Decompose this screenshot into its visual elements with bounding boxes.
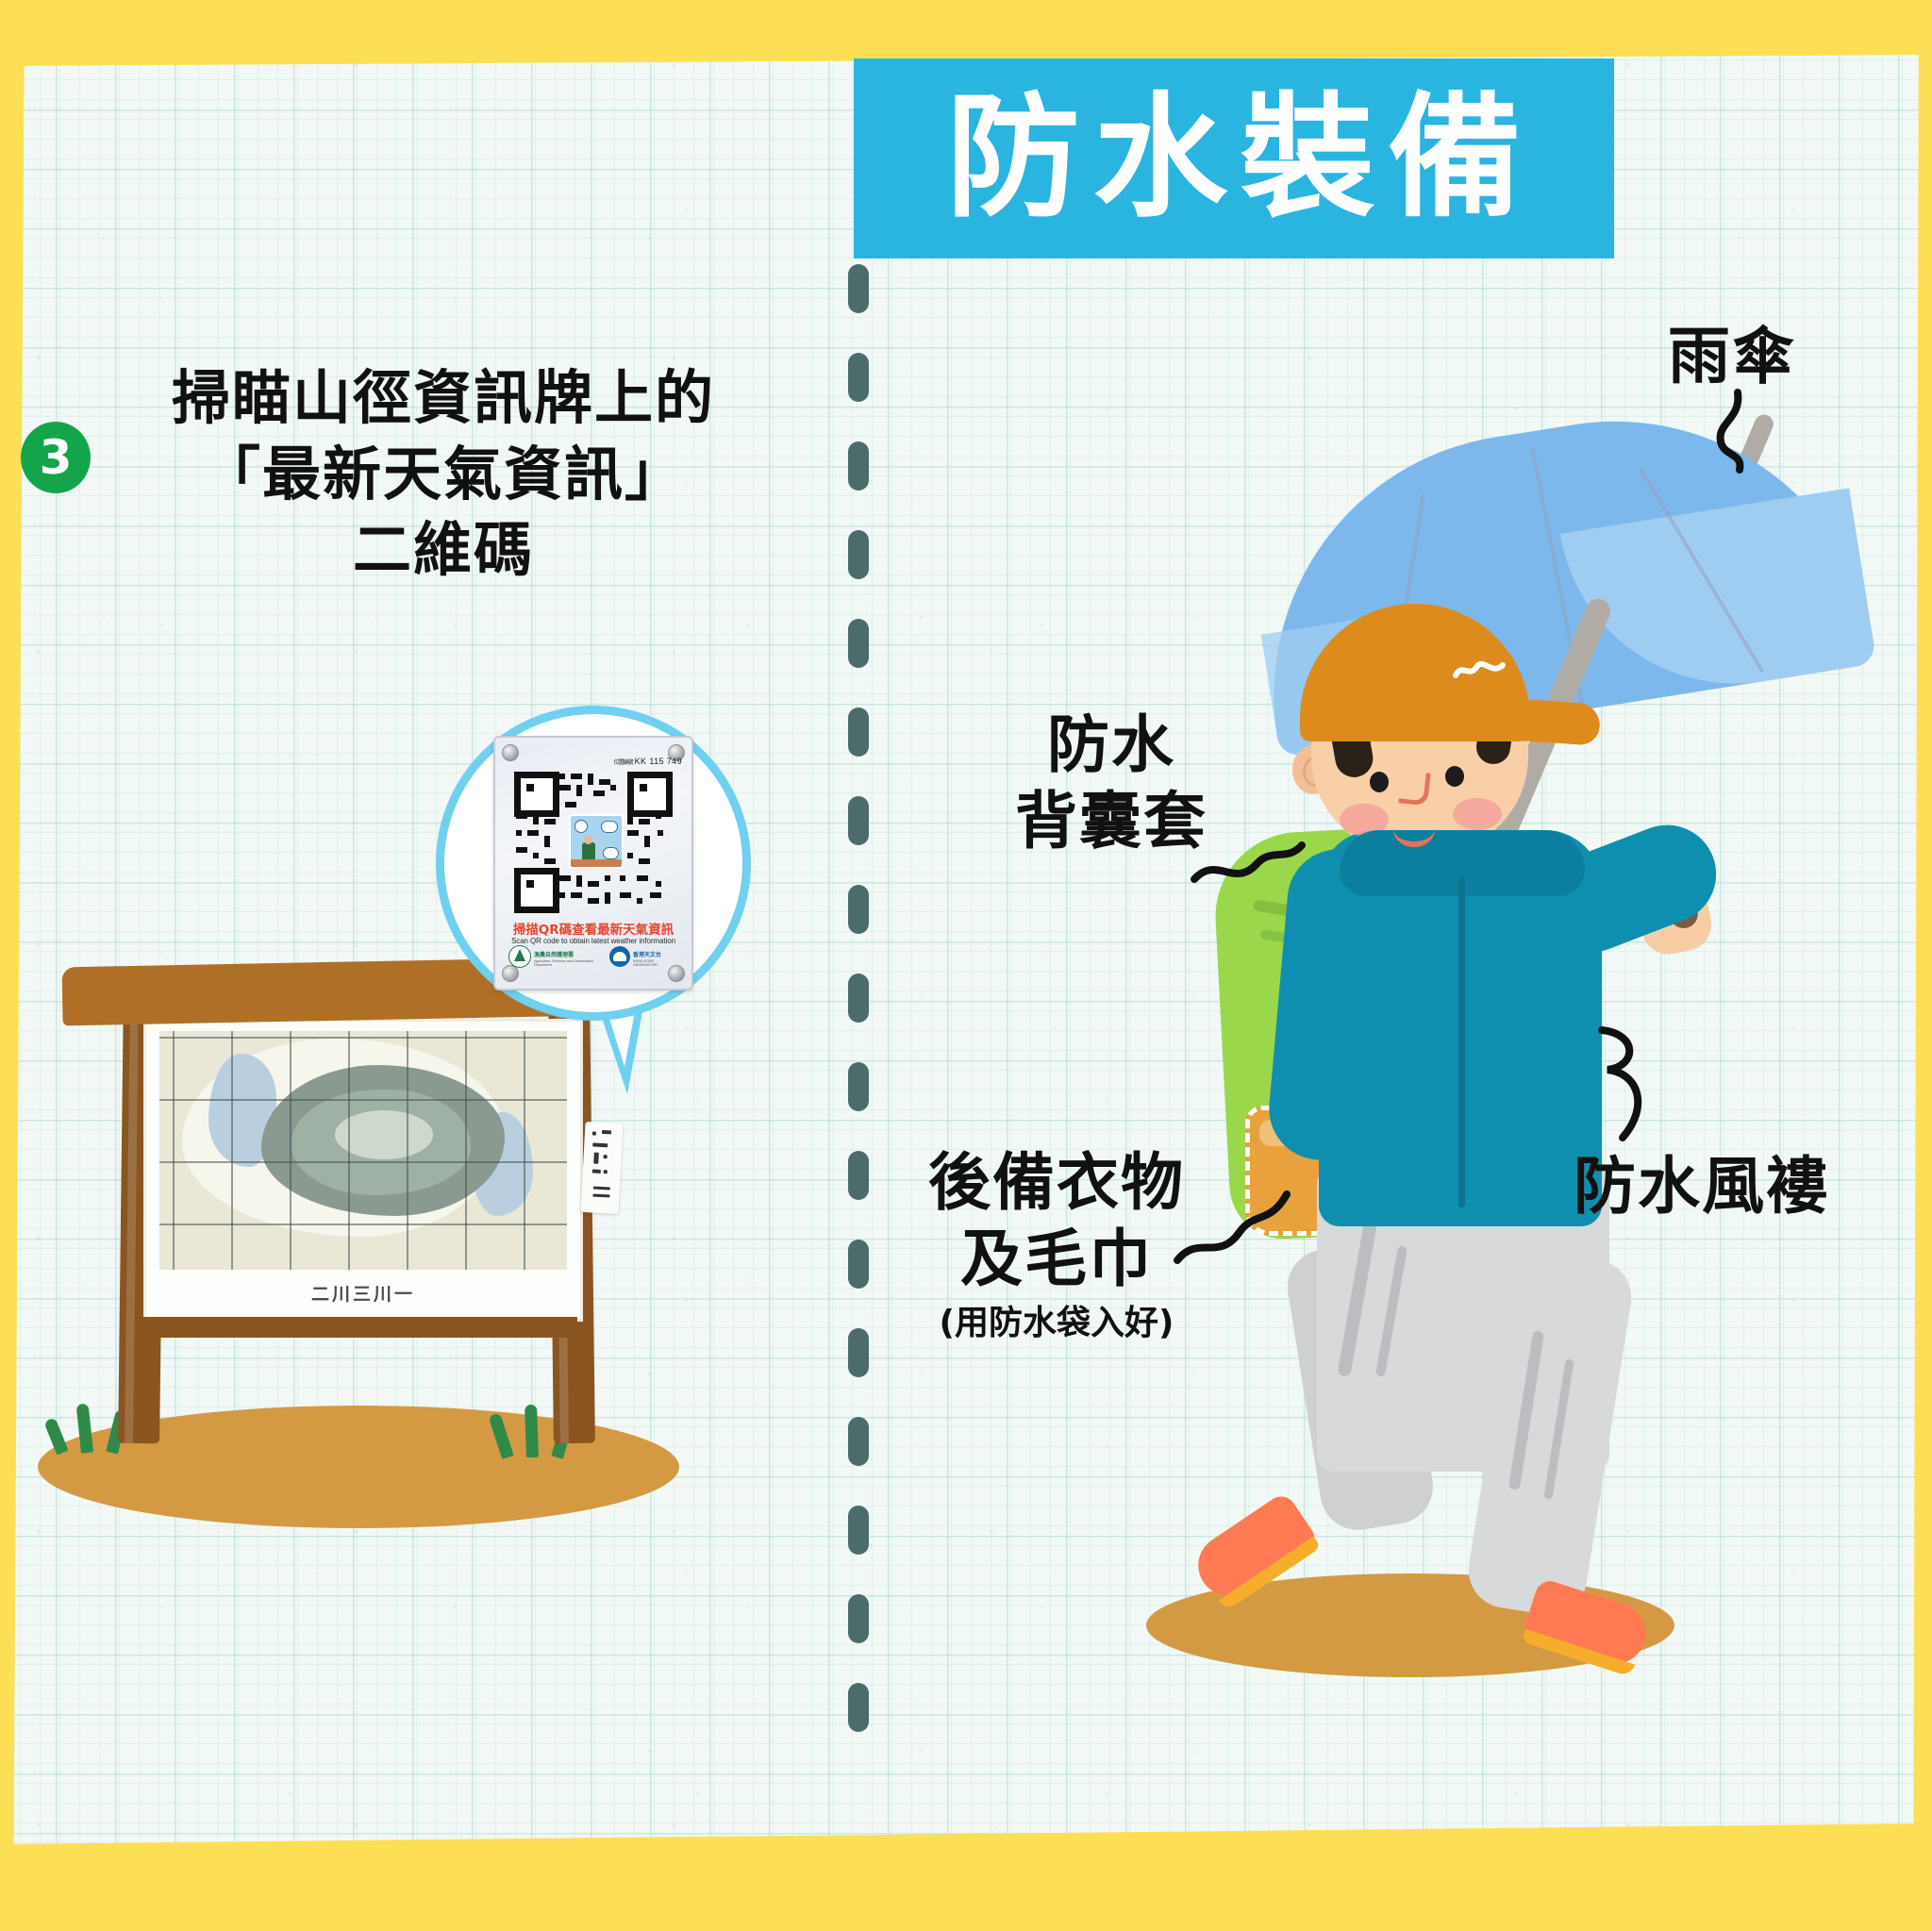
page-title: 防水裝備 — [933, 92, 1535, 225]
label-backpack-cover-line1: 防水 — [970, 707, 1253, 784]
hko-name-en: HONG KONG OBSERVATORY — [633, 960, 678, 968]
observatory-icon — [609, 946, 630, 967]
step-description: 掃瞄山徑資訊牌上的 「最新天氣資訊」 二維碼 — [94, 360, 792, 589]
afcd-logo: 漁農自然護理署 Agriculture, Fisheries and Conse… — [508, 945, 609, 968]
afcd-name-zh: 漁農自然護理署 — [534, 953, 574, 958]
plaque-code-prefix: 位置編號 — [614, 760, 633, 766]
label-spare-clothes-line2: 及毛巾 — [896, 1222, 1217, 1298]
pointer-umbrella — [1679, 387, 1774, 491]
weather-qr-plaque: 位置編號KK 115 749 — [493, 736, 693, 990]
dashed-divider — [848, 264, 869, 1802]
step-line-3: 二維碼 — [94, 512, 792, 589]
pointer-rain-jacket — [1585, 1021, 1689, 1153]
pointer-spare-clothes — [1172, 1170, 1294, 1273]
hiker-cheek-right — [1453, 798, 1502, 830]
plaque-location-code: 位置編號KK 115 749 — [614, 757, 682, 766]
qr-callout-bubble: 位置編號KK 115 749 — [436, 706, 751, 1021]
title-banner: 防水裝備 — [854, 58, 1614, 258]
infographic-page: 防水裝備 3 掃瞄山徑資訊牌上的 「最新天氣資訊」 二維碼 — [0, 0, 1932, 1931]
afcd-name-en: Agriculture, Fisheries and Conservation … — [534, 960, 609, 968]
trail-map — [159, 1031, 567, 1270]
map-grid-lines — [159, 1031, 567, 1270]
signboard-panel: 二川三川一 — [143, 1019, 583, 1322]
step-number-badge: 3 — [21, 422, 91, 493]
plaque-logo-row: 漁農自然護理署 Agriculture, Fisheries and Conse… — [508, 945, 678, 968]
map-caption: 二川三川一 — [146, 1280, 580, 1306]
step-number-text: 3 — [40, 434, 73, 481]
plaque-caption-zh: 掃描QR碼查看最新天氣資訊 — [495, 919, 691, 938]
qr-code-icon — [514, 772, 673, 913]
cap-logo-icon — [1453, 660, 1506, 681]
signboard-rail — [143, 1317, 577, 1338]
label-spare-clothes-line1: 後備衣物 — [896, 1145, 1217, 1222]
hko-name-zh: 香港天文台 — [633, 953, 661, 958]
top-border-band — [0, 0, 1932, 66]
label-spare-clothes: 後備衣物 及毛巾 (用防水袋入好) — [896, 1145, 1217, 1344]
step-line-1: 掃瞄山徑資訊牌上的 — [94, 360, 792, 437]
jacket-zipper — [1458, 877, 1465, 1207]
hiker-eye-left — [1370, 772, 1389, 792]
hko-logo: 香港天文台 HONG KONG OBSERVATORY — [609, 945, 678, 968]
qr-plaque-on-post — [581, 1122, 624, 1214]
tree-icon — [508, 945, 531, 968]
label-umbrella: 雨傘 — [1668, 319, 1796, 395]
pointer-backpack-cover — [1189, 830, 1311, 915]
step-line-2: 「最新天氣資訊」 — [94, 437, 792, 513]
plaque-code-value: KK 115 749 — [635, 757, 682, 766]
screw-icon — [502, 744, 519, 761]
label-spare-clothes-note: (用防水袋入好) — [896, 1303, 1217, 1344]
hiking-weather-logo-icon — [569, 814, 624, 869]
plaque-caption-en: Scan QR code to obtain latest weather in… — [495, 937, 691, 945]
hiker-eye-right — [1445, 766, 1464, 787]
label-rain-jacket: 防水風褸 — [1574, 1149, 1830, 1225]
